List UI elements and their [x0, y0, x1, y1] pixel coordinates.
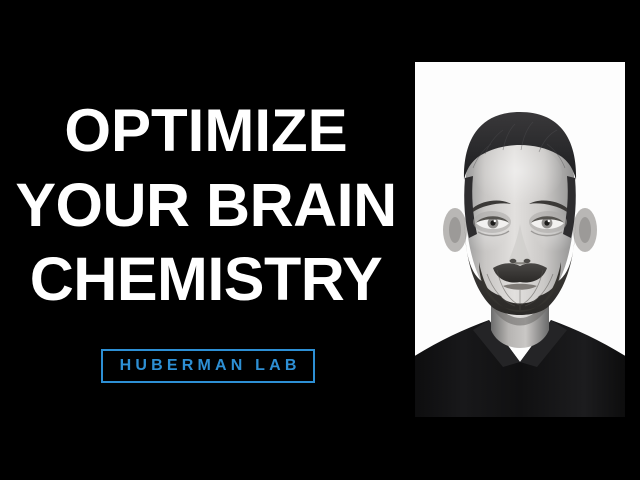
title-line-3: CHEMISTRY [0, 242, 412, 316]
brand-badge: HUBERMAN LAB [101, 349, 315, 383]
title-line-1: OPTIMIZE [0, 94, 412, 168]
brand-badge-label: HUBERMAN LAB [115, 358, 300, 374]
video-thumbnail: OPTIMIZE YOUR BRAIN CHEMISTRY HUBERMAN L… [0, 0, 640, 480]
host-portrait [415, 62, 625, 417]
title-block: OPTIMIZE YOUR BRAIN CHEMISTRY [0, 94, 412, 316]
host-portrait-image [415, 62, 625, 417]
title-line-2: YOUR BRAIN [0, 168, 412, 242]
